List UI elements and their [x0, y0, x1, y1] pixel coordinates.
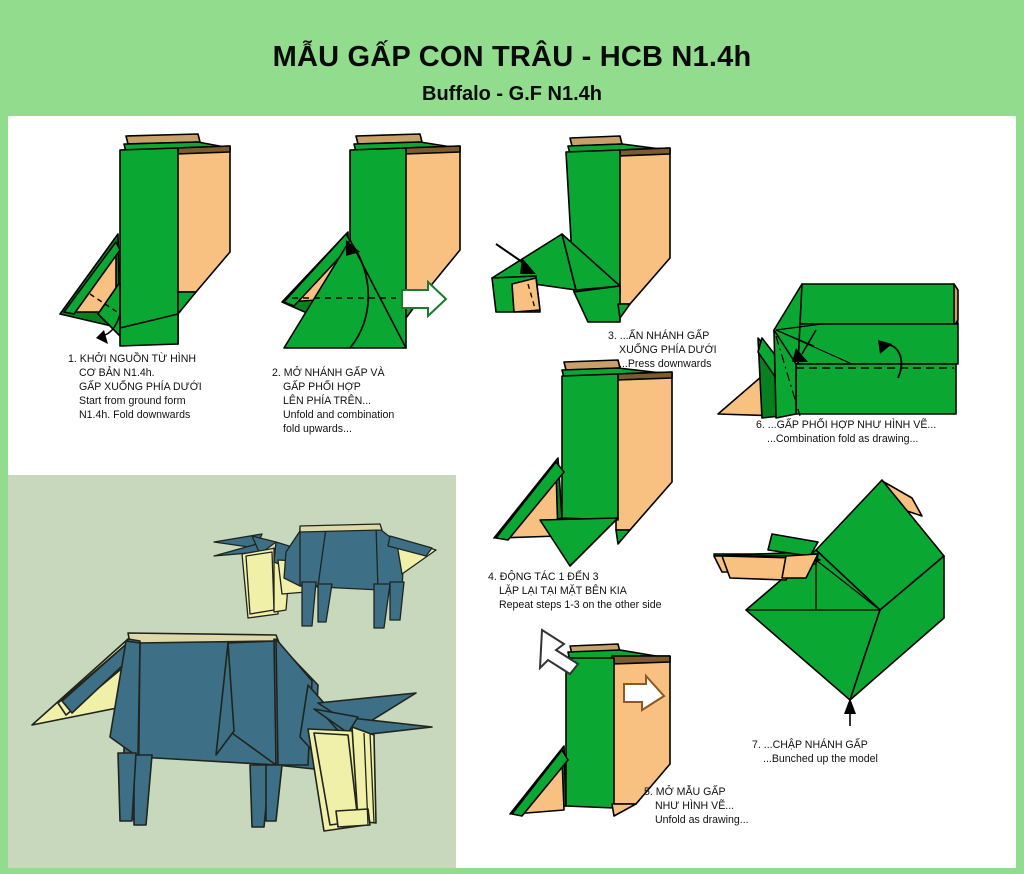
step-5-vn-line-2: NHƯ HÌNH VẼ... [644, 799, 749, 813]
step-2-vn-line-1: MỞ NHÁNH GẤP VÀ [284, 367, 385, 379]
step-7-vn-line-1: ...CHẬP NHÁNH GẤP [764, 739, 868, 751]
step-4-vn-line-2: LẶP LẠI TẠI MẶT BÊN KIA [488, 584, 662, 598]
caption-step-5: 5. MỞ MẪU GẤP NHƯ HÌNH VẼ... Unfold as d… [644, 785, 749, 827]
step-4-en-line-1: Repeat steps 1-3 on the other side [488, 598, 662, 612]
step-6-en-line-1: ...Combination fold as drawing... [756, 432, 936, 446]
step-7-number: 7. [752, 739, 761, 751]
figure-step-4 [478, 352, 693, 567]
model-buffalo-large [18, 625, 448, 870]
figure-step-1 [58, 122, 298, 352]
figure-step-7 [700, 468, 1010, 728]
step-1-vn-line-1: KHỞI NGUỒN TỪ HÌNH [80, 353, 196, 365]
title-banner: MẪU GẤP CON TRÂU - HCB N1.4h Buffalo - G… [0, 0, 1024, 116]
caption-step-2: 2. MỞ NHÁNH GẤP VÀ GẤP PHỐI HỢP LÊN PHÍA… [272, 366, 394, 436]
step-1-en-line-2: N1.4h. Fold downwards [68, 408, 202, 422]
step-6-number: 6. [756, 419, 765, 431]
page-subtitle: Buffalo - G.F N1.4h [0, 84, 1024, 104]
caption-step-7: 7. ...CHẬP NHÁNH GẤP ...Bunched up the m… [752, 738, 878, 766]
step-5-en-line-1: Unfold as drawing... [644, 813, 749, 827]
step-3-number: 3. [608, 330, 617, 342]
step-1-vn-line-3: GẤP XUỐNG PHÍA DƯỚI [68, 380, 202, 394]
step-4-vn-line-1: ĐỘNG TÁC 1 ĐẾN 3 [500, 571, 599, 583]
figure-step-3 [478, 126, 698, 341]
step-2-vn-line-2: GẤP PHỐI HỢP [272, 380, 394, 394]
step-6-vn-line-1: ...GẤP PHỐI HỢP NHƯ HÌNH VẼ... [768, 419, 936, 431]
step-7-en-line-1: ...Bunched up the model [752, 752, 878, 766]
step-4-number: 4. [488, 571, 497, 583]
caption-step-4: 4. ĐỘNG TÁC 1 ĐẾN 3 LẶP LẠI TẠI MẶT BÊN … [488, 570, 662, 612]
caption-step-1: 1. KHỞI NGUỒN TỪ HÌNH CƠ BẢN N1.4h. GẤP … [68, 352, 202, 422]
caption-step-6: 6. ...GẤP PHỐI HỢP NHƯ HÌNH VẼ... ...Com… [756, 418, 936, 446]
step-1-en-line-1: Start from ground form [68, 394, 202, 408]
page-title: MẪU GẤP CON TRÂU - HCB N1.4h [0, 43, 1024, 72]
page-root: MẪU GẤP CON TRÂU - HCB N1.4h Buffalo - G… [0, 0, 1024, 874]
step-2-number: 2. [272, 367, 281, 379]
step-1-number: 1. [68, 353, 77, 365]
model-buffalo-small [190, 486, 455, 631]
step-2-vn-line-3: LÊN PHÍA TRÊN... [272, 394, 394, 408]
step-2-en-line-1: Unfold and combination [272, 408, 394, 422]
step-5-number: 5. [644, 786, 653, 798]
step-3-vn-line-1: ...ẤN NHÁNH GẤP [620, 330, 709, 342]
step-5-vn-line-1: MỞ MẪU GẤP [656, 786, 726, 798]
step-1-vn-line-2: CƠ BẢN N1.4h. [68, 366, 202, 380]
step-2-en-line-2: fold upwards... [272, 422, 394, 436]
figure-step-2 [268, 122, 498, 352]
figure-step-6 [718, 268, 1018, 423]
